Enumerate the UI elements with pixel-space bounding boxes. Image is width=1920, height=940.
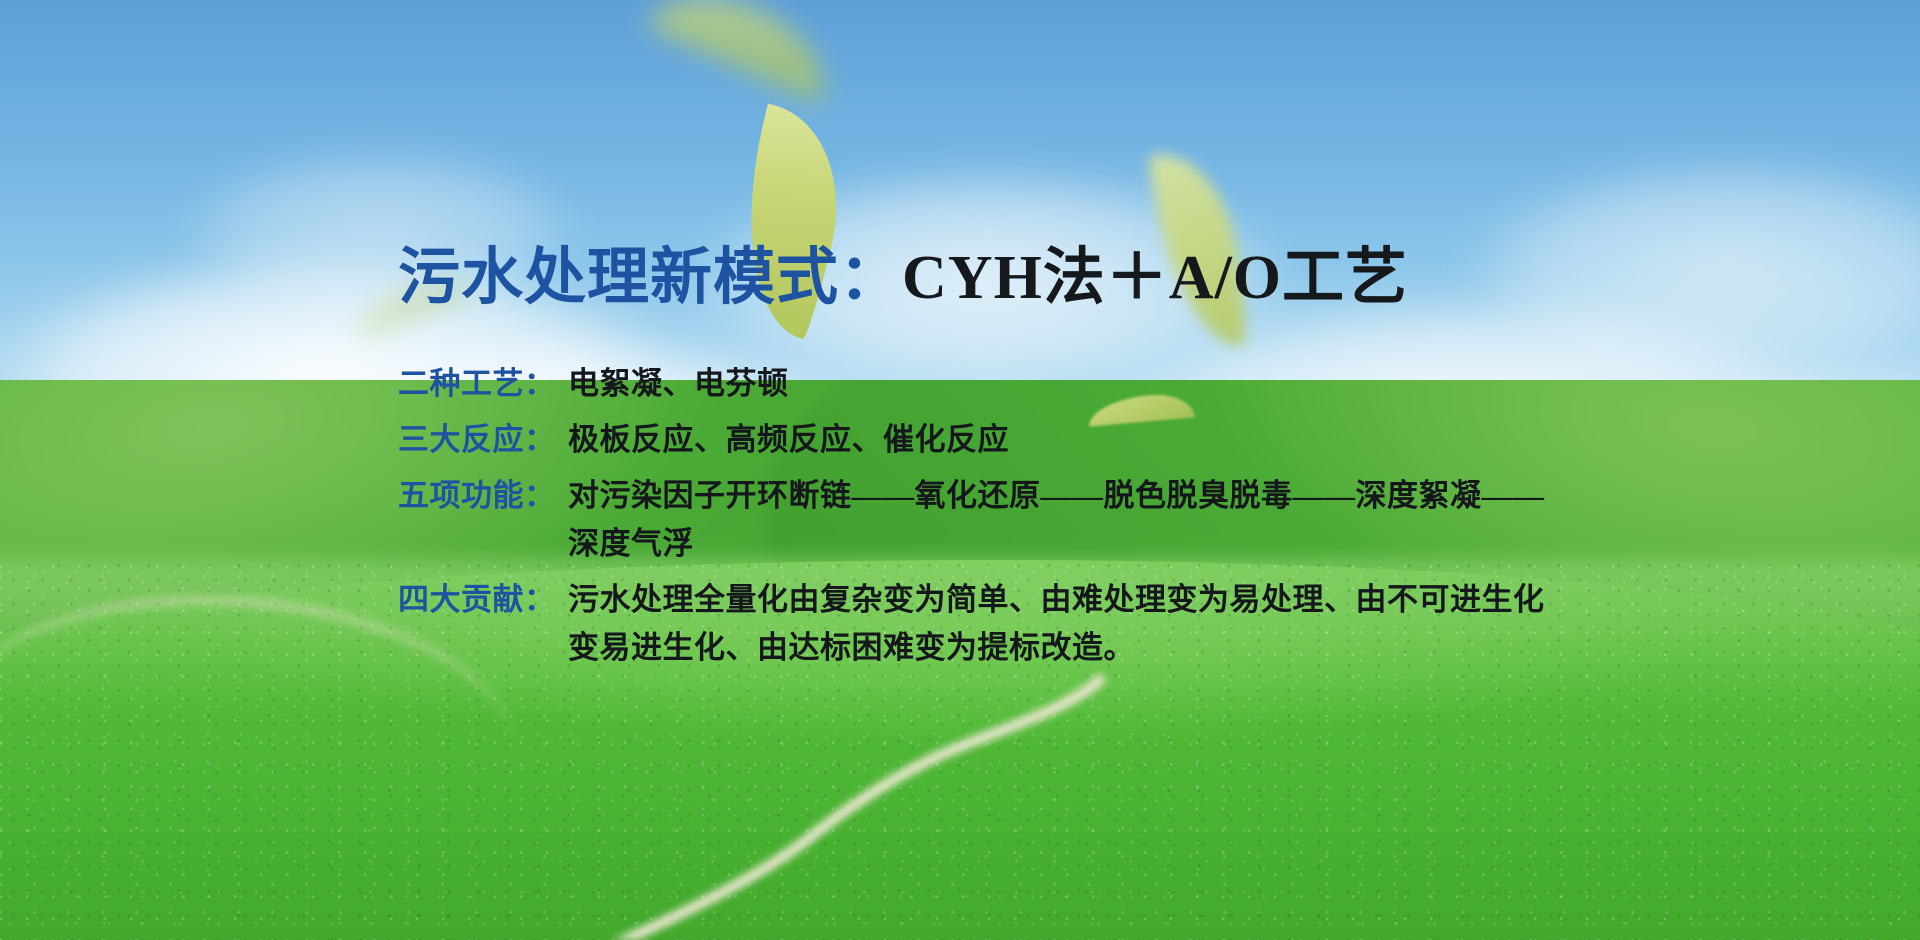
bullet-text: 污水处理全量化由复杂变为简单、由难处理变为易处理、由不可进生化变易进生化、由达标… (568, 576, 1558, 672)
bullet-label: 二种工艺： (398, 360, 568, 408)
bullet-item-five-functions: 五项功能： 对污染因子开环断链——氧化还原——脱色脱臭脱毒——深度絮凝——深度气… (398, 472, 1558, 568)
slide-content: 污水处理新模式：CYH法＋A/O工艺 二种工艺： 电絮凝、电芬顿 三大反应： 极… (0, 0, 1920, 940)
bullet-label: 三大反应： (398, 416, 568, 464)
slide-title-black: CYH法＋A/O工艺 (902, 244, 1408, 312)
bullet-label: 四大贡献： (398, 576, 568, 624)
slide-canvas: 污水处理新模式：CYH法＋A/O工艺 二种工艺： 电絮凝、电芬顿 三大反应： 极… (0, 0, 1920, 940)
bullet-item-two-processes: 二种工艺： 电絮凝、电芬顿 (398, 360, 1558, 408)
bullet-item-three-reactions: 三大反应： 极板反应、高频反应、催化反应 (398, 416, 1558, 464)
bullet-label: 五项功能： (398, 472, 568, 520)
slide-title-blue: 污水处理新模式： (398, 240, 902, 313)
bullet-text: 电絮凝、电芬顿 (568, 360, 1558, 408)
bullet-text: 对污染因子开环断链——氧化还原——脱色脱臭脱毒——深度絮凝——深度气浮 (568, 472, 1558, 568)
slide-title: 污水处理新模式：CYH法＋A/O工艺 (398, 246, 1408, 309)
bullet-text: 极板反应、高频反应、催化反应 (568, 416, 1558, 464)
bullet-item-four-contributions: 四大贡献： 污水处理全量化由复杂变为简单、由难处理变为易处理、由不可进生化变易进… (398, 576, 1558, 672)
bullet-list: 二种工艺： 电絮凝、电芬顿 三大反应： 极板反应、高频反应、催化反应 五项功能：… (398, 360, 1558, 680)
